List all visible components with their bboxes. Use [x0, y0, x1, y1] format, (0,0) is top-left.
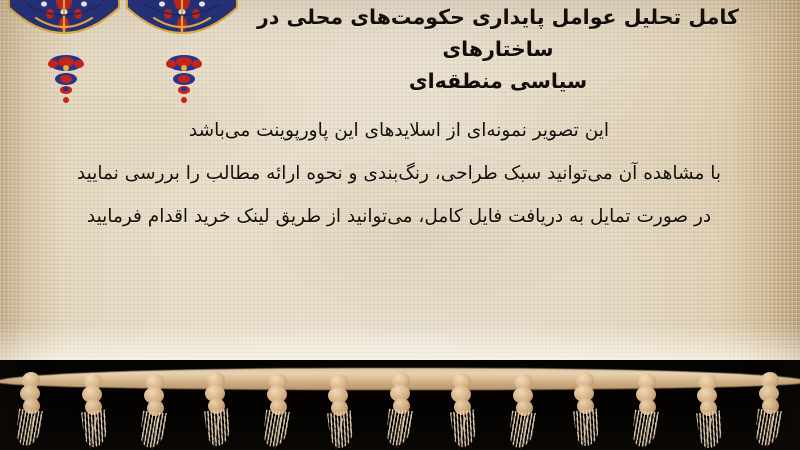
body-line-2: با مشاهده آن می‌توانید سبک طراحی، رنگ‌بن…	[28, 153, 770, 196]
fringe-tassel	[572, 372, 598, 446]
fringe-tassel	[695, 374, 721, 448]
tassel-brush	[327, 411, 355, 450]
fringe-tassel	[388, 372, 414, 446]
slide-title: کامل تحلیل عوامل پایداری حکومت‌های محلی …	[212, 2, 784, 97]
tassel-brush	[204, 409, 232, 448]
tassel-brush	[450, 410, 478, 449]
fringe-tassel	[265, 373, 291, 447]
tassel-brush	[696, 411, 724, 450]
body-line-1: این تصویر نمونه‌ای از اسلایدهای این پاور…	[28, 110, 770, 153]
fringe-tassel	[203, 372, 229, 446]
slide-canvas: کامل تحلیل عوامل پایداری حکومت‌های محلی …	[0, 0, 800, 450]
tassel-brush	[81, 410, 109, 449]
carpet-fringe-tassels	[0, 360, 800, 450]
fringe-tassel	[757, 372, 783, 446]
body-line-3: در صورت تمایل به دریافت فایل کامل، می‌تو…	[28, 196, 770, 239]
fringe-tassel	[511, 374, 537, 448]
fringe-tassel	[142, 374, 168, 448]
tassel-brush	[573, 409, 601, 448]
slide-body-text: این تصویر نمونه‌ای از اسلایدهای این پاور…	[28, 110, 770, 239]
fringe-tassel	[80, 373, 106, 447]
fringe-tassel	[449, 373, 475, 447]
slide-title-line-2: سیاسی منطقه‌ای	[212, 66, 784, 98]
fringe-tassel	[634, 373, 660, 447]
fringe-tassel	[326, 374, 352, 448]
slide-title-line-1: کامل تحلیل عوامل پایداری حکومت‌های محلی …	[212, 2, 784, 66]
fringe-tassel	[18, 372, 44, 446]
